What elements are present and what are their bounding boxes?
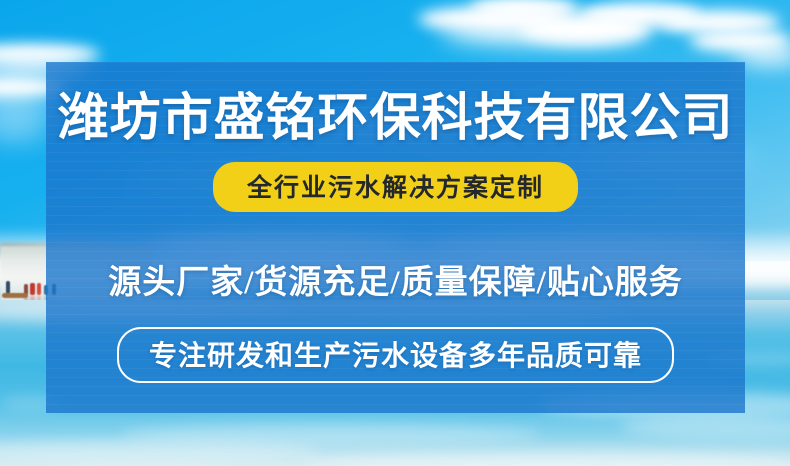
person-figure [37, 283, 41, 295]
content-stack: 潍坊市盛铭环保科技有限公司 全行业污水解决方案定制 源头厂家/货源充足/质量保障… [46, 62, 745, 413]
highlight-pill-badge[interactable]: 全行业污水解决方案定制 [213, 162, 578, 212]
outline-pill-badge[interactable]: 专注研发和生产污水设备多年品质可靠 [117, 327, 674, 383]
cloud-icon [440, 24, 650, 44]
company-title: 潍坊市盛铭环保科技有限公司 [57, 89, 733, 146]
promotional-banner: 潍坊市盛铭环保科技有限公司 全行业污水解决方案定制 源头厂家/货源充足/质量保障… [0, 0, 790, 466]
water-highlight [300, 452, 790, 466]
tagline-text: 源头厂家/货源充足/质量保障/贴心服务 [108, 255, 683, 303]
person-figure [30, 283, 35, 295]
